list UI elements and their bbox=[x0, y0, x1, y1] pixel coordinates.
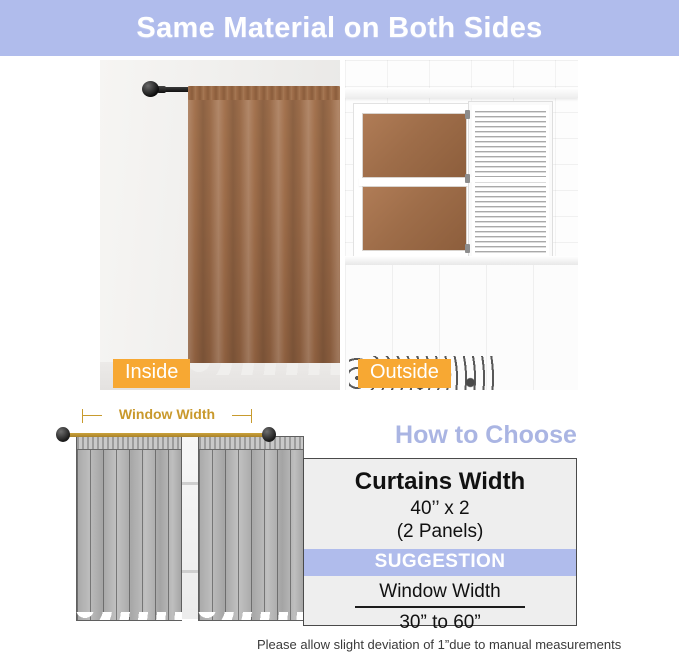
how-to-choose-title: How to Choose bbox=[336, 421, 636, 450]
table-heading-curtains-width: Curtains Width bbox=[304, 459, 576, 496]
shutter-louvers bbox=[475, 108, 546, 257]
panel-hem-left bbox=[76, 612, 182, 620]
diagram-window-mullion-bottom bbox=[180, 570, 198, 573]
diagram-curtain-panel-right bbox=[198, 436, 304, 621]
shutter-hinge-bottom-icon bbox=[465, 244, 470, 253]
window-width-diagram: Window Width bbox=[20, 398, 282, 638]
panel-hem-right bbox=[198, 612, 304, 620]
header-banner: Same Material on Both Sides bbox=[0, 0, 679, 56]
window-frame bbox=[354, 104, 477, 264]
tag-outside-label: Outside bbox=[358, 359, 451, 388]
photo-outside-view bbox=[345, 60, 578, 390]
photo-inside-view bbox=[100, 60, 340, 390]
window-rail bbox=[359, 178, 472, 186]
diagram-window-opening bbox=[180, 436, 200, 619]
diagram-curtain-panel-left bbox=[76, 436, 182, 621]
diagram-finial-left-icon bbox=[56, 427, 70, 442]
shutter-hinge-middle-icon bbox=[465, 174, 470, 183]
diagram-finial-right-icon bbox=[262, 427, 276, 442]
shutter-divider bbox=[469, 177, 546, 182]
dimension-label: Window Width bbox=[102, 406, 232, 422]
window-pane-bottom bbox=[362, 186, 467, 251]
diagram-curtain-rod bbox=[68, 433, 266, 437]
window-pane-top bbox=[362, 113, 467, 178]
panel-pleats-right bbox=[199, 437, 303, 620]
table-row-window-width: Window Width bbox=[304, 576, 576, 603]
window-sill bbox=[345, 256, 578, 265]
photo-comparison-row bbox=[0, 60, 679, 392]
rod-finial-icon bbox=[142, 81, 159, 97]
how-to-choose-table: Curtains Width 40’’ x 2 (2 Panels) SUGGE… bbox=[303, 458, 577, 626]
table-row-curtain-size: 40’’ x 2 bbox=[304, 496, 576, 520]
panel-gather-right bbox=[199, 437, 303, 450]
page-title: Same Material on Both Sides bbox=[136, 12, 542, 45]
curtain-hem bbox=[188, 363, 340, 375]
table-row-panel-count: (2 Panels) bbox=[304, 520, 576, 543]
measurement-footnote: Please allow slight deviation of 1”due t… bbox=[257, 637, 621, 652]
table-row-suggestion: SUGGESTION bbox=[304, 549, 576, 576]
curtain-rod-pocket bbox=[188, 86, 340, 100]
tag-inside-label: Inside bbox=[113, 359, 190, 388]
roof-eave bbox=[345, 88, 578, 98]
diagram-window-mullion-top bbox=[180, 482, 198, 485]
curtain-panel-brown bbox=[188, 88, 340, 363]
dimension-cap-left bbox=[82, 409, 83, 423]
window-shutter bbox=[469, 102, 552, 263]
dimension-cap-right bbox=[251, 409, 252, 423]
shutter-hinge-top-icon bbox=[465, 110, 470, 119]
panel-gather-left bbox=[77, 437, 181, 450]
table-row-window-width-range: 30” to 60” bbox=[304, 608, 576, 634]
panel-pleats-left bbox=[77, 437, 181, 620]
